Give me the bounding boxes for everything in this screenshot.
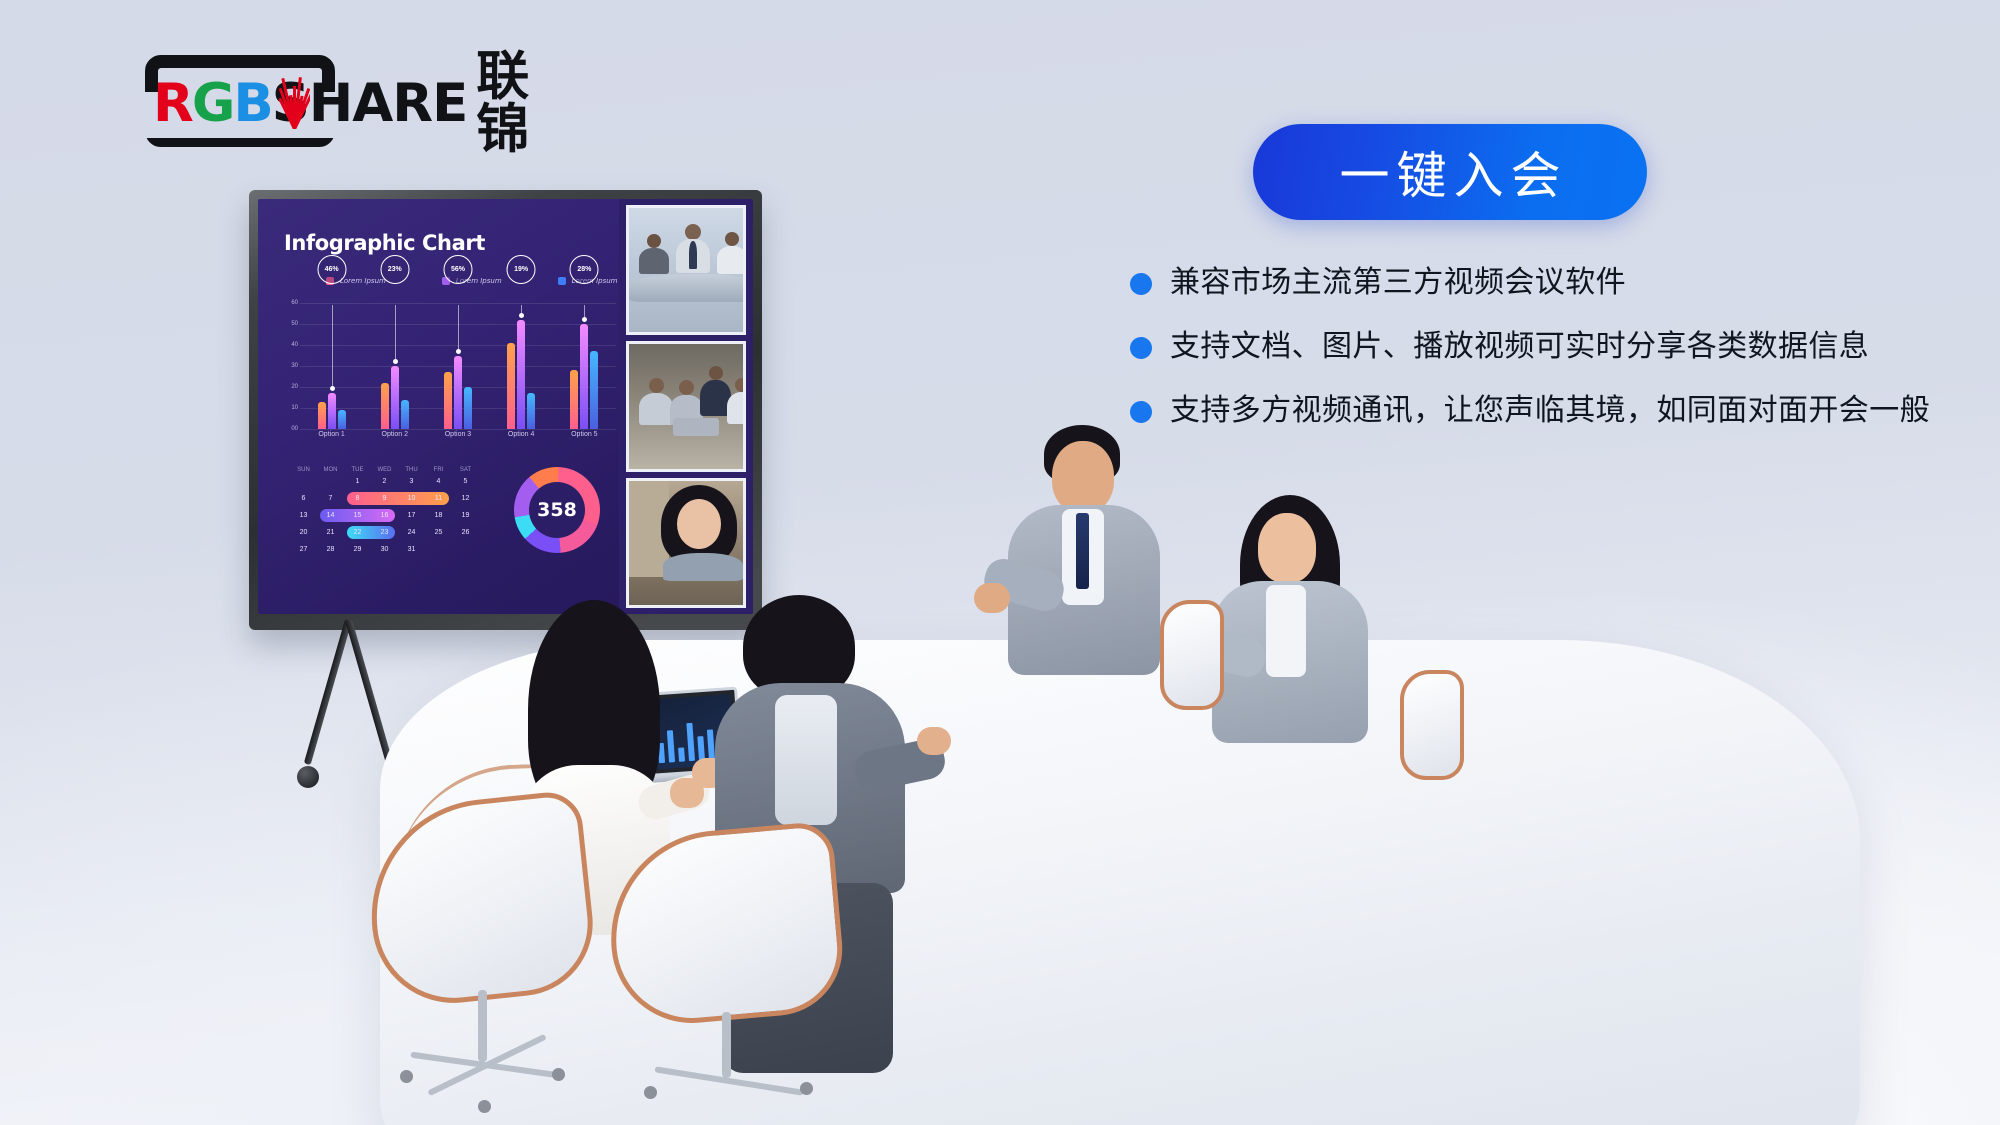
calendar-day[interactable]: 4 [425, 473, 452, 490]
one-click-join-button[interactable]: 一键入会 [1253, 124, 1647, 220]
y-tick-label: 40 [291, 342, 298, 348]
calendar-day[interactable] [290, 473, 317, 490]
office-chair-far-right [1400, 670, 1470, 800]
x-tick-label: Option 5 [561, 431, 607, 438]
bar [507, 343, 515, 429]
bar [527, 393, 535, 429]
rgbshare-logo: R G B SHARE 联锦 [145, 55, 545, 147]
calendar-day[interactable]: 10 [398, 490, 425, 507]
bar [580, 324, 588, 429]
calendar-day[interactable]: 24 [398, 524, 425, 541]
logo-wordmark: R G B SHARE 联锦 [153, 75, 553, 131]
list-item: 支持多方视频通讯，让您声临其境，如同面对面开会一般 [1130, 392, 1970, 430]
y-tick-label: 00 [291, 426, 298, 432]
video-tile[interactable] [626, 341, 746, 471]
callout-badge: 23% [380, 255, 409, 284]
calendar-day[interactable]: 15 [344, 507, 371, 524]
bar [318, 402, 326, 429]
chair-backrest [360, 789, 600, 1011]
calendar-day[interactable]: 27 [290, 541, 317, 558]
calendar-day[interactable]: 11 [425, 490, 452, 507]
bullet-text: 支持多方视频通讯，让您声临其境，如同面对面开会一般 [1170, 392, 1930, 430]
calendar-day[interactable] [425, 541, 452, 558]
calendar-widget[interactable]: SUNMONTUEWEDTHUFRISAT 123456789101112131… [290, 467, 480, 558]
legend-swatch [558, 277, 566, 285]
chair-wheel [644, 1086, 657, 1099]
chair-post [478, 990, 487, 1062]
calendar-week-row: 20212223242526 [290, 524, 480, 541]
bar-groups: 46%23%56%19%28% [300, 303, 616, 429]
legend-label: Lorem Ipsum [340, 277, 386, 285]
presentation-area: Infographic Chart Lorem Ipsum Lorem Ipsu… [258, 199, 619, 614]
calendar-day[interactable]: 13 [290, 507, 317, 524]
calendar-day[interactable]: 3 [398, 473, 425, 490]
y-tick-label: 10 [291, 405, 298, 411]
calendar-day[interactable]: 9 [371, 490, 398, 507]
callout-badge: 28% [570, 255, 599, 284]
bullet-dot-icon [1130, 273, 1152, 295]
office-chair-far-left [1160, 600, 1230, 730]
x-tick-label: Option 3 [435, 431, 481, 438]
bar-group: 46% [309, 303, 355, 429]
bar-group: 19% [498, 303, 544, 429]
y-tick-label: 60 [291, 300, 298, 306]
callout-badge: 46% [317, 255, 346, 284]
calendar-day[interactable]: 30 [371, 541, 398, 558]
one-click-join-label: 一键入会 [1333, 136, 1568, 208]
logo-letter-g: G [192, 77, 234, 130]
chair-backrest [1160, 600, 1224, 710]
bar [391, 366, 399, 429]
stand-caster [297, 766, 319, 788]
calendar-week-row: 2728293031 [290, 541, 480, 558]
video-tile[interactable] [626, 205, 746, 335]
display-screen: Infographic Chart Lorem Ipsum Lorem Ipsu… [258, 199, 753, 614]
calendar-day[interactable]: 14 [317, 507, 344, 524]
logo-word-share: SHARE [272, 77, 468, 130]
calendar-day[interactable]: 17 [398, 507, 425, 524]
calendar-day[interactable]: 25 [425, 524, 452, 541]
calendar-day[interactable] [317, 473, 344, 490]
office-chair-left [370, 800, 610, 1125]
x-tick-label: Option 2 [372, 431, 418, 438]
callout-badge: 56% [443, 255, 472, 284]
bar [338, 410, 346, 429]
logo-letter-b: B [233, 77, 271, 130]
calendar-day[interactable]: 6 [290, 490, 317, 507]
calendar-day[interactable]: 19 [452, 507, 479, 524]
x-axis-labels: Option 1Option 2Option 3Option 4Option 5 [300, 431, 616, 438]
calendar-day[interactable]: 20 [290, 524, 317, 541]
chair-wheel [478, 1100, 491, 1113]
stand-leg [304, 619, 352, 765]
calendar-day[interactable]: 31 [398, 541, 425, 558]
chair-wheel [400, 1070, 413, 1083]
list-item: 支持文档、图片、播放视频可实时分享各类数据信息 [1130, 328, 1970, 366]
calendar-day[interactable]: 22 [344, 524, 371, 541]
calendar-week-row: 6789101112 [290, 490, 480, 507]
bar [590, 351, 598, 429]
chair-wheel [552, 1068, 565, 1081]
callout-stem [458, 305, 459, 352]
bar [381, 383, 389, 429]
chart-title: Infographic Chart [284, 231, 485, 255]
logo-word-chinese: 联锦 [476, 50, 553, 156]
calendar-week-row: 12345 [290, 473, 480, 490]
bullet-dot-icon [1130, 401, 1152, 423]
y-tick-label: 30 [291, 363, 298, 369]
bullet-dot-icon [1130, 337, 1152, 359]
participant-man-seated-right [1000, 425, 1180, 695]
x-tick-label: Option 4 [498, 431, 544, 438]
calendar-day[interactable]: 1 [344, 473, 371, 490]
calendar-day[interactable]: 26 [452, 524, 479, 541]
video-tile[interactable] [626, 478, 746, 608]
bullet-text: 兼容市场主流第三方视频会议软件 [1170, 264, 1626, 302]
chair-backrest [1400, 670, 1464, 780]
stand-leg [345, 619, 393, 765]
callout-stem [395, 305, 396, 362]
y-axis-ticks: 60504030201000 [276, 303, 298, 429]
x-tick-label: Option 1 [309, 431, 355, 438]
display-bezel: Infographic Chart Lorem Ipsum Lorem Ipsu… [249, 190, 762, 630]
bar [464, 387, 472, 429]
chair-post [722, 1012, 731, 1078]
calendar-day[interactable]: 28 [317, 541, 344, 558]
list-item: 兼容市场主流第三方视频会议软件 [1130, 264, 1970, 302]
calendar-day[interactable]: 7 [317, 490, 344, 507]
calendar-week-row: 13141516171819 [290, 507, 480, 524]
callout-badge: 19% [507, 255, 536, 284]
donut-center-value: 358 [537, 499, 577, 521]
y-tick-label: 20 [291, 384, 298, 390]
bar-group: 28% [561, 303, 607, 429]
calendar-day[interactable]: 12 [452, 490, 479, 507]
chair-backrest [602, 820, 848, 1029]
calendar-day[interactable]: 21 [317, 524, 344, 541]
bar [517, 320, 525, 429]
callout-stem [584, 305, 585, 320]
bar [401, 400, 409, 429]
callout-stem [521, 305, 522, 316]
bar [328, 393, 336, 429]
office-chair-center [610, 830, 860, 1125]
feature-bullet-list: 兼容市场主流第三方视频会议软件 支持文档、图片、播放视频可实时分享各类数据信息 … [1130, 264, 1970, 455]
calendar-day[interactable]: 23 [371, 524, 398, 541]
bar-group: 56% [435, 303, 481, 429]
calendar-day[interactable]: 8 [344, 490, 371, 507]
logo-letter-r: R [153, 77, 192, 130]
calendar-weeks: 1234567891011121314151617181920212223242… [290, 473, 480, 558]
bullet-text: 支持文档、图片、播放视频可实时分享各类数据信息 [1170, 328, 1869, 366]
calendar-day[interactable] [452, 541, 479, 558]
calendar-day[interactable]: 29 [344, 541, 371, 558]
flat-panel-display: Infographic Chart Lorem Ipsum Lorem Ipsu… [249, 190, 762, 630]
y-tick-label: 50 [291, 321, 298, 327]
bar-chart: 60504030201000 46%23%56%19%28% Option 1O… [276, 303, 616, 453]
chair-base [427, 1034, 546, 1096]
bar [454, 356, 462, 430]
donut-chart: 358 [514, 467, 600, 553]
bar-group: 23% [372, 303, 418, 429]
callout-stem [332, 305, 333, 389]
bar [444, 372, 452, 429]
video-call-tile-strip [619, 199, 753, 614]
chair-wheel [800, 1082, 813, 1095]
calendar-day[interactable]: 2 [371, 473, 398, 490]
bar [570, 370, 578, 429]
slide-canvas: R G B SHARE 联锦 一键入会 兼容市场主流第三方视频会议软件 支持文档… [0, 0, 2000, 1125]
calendar-day[interactable]: 18 [425, 507, 452, 524]
calendar-day[interactable]: 5 [452, 473, 479, 490]
gridline [300, 429, 616, 430]
calendar-day[interactable]: 16 [371, 507, 398, 524]
